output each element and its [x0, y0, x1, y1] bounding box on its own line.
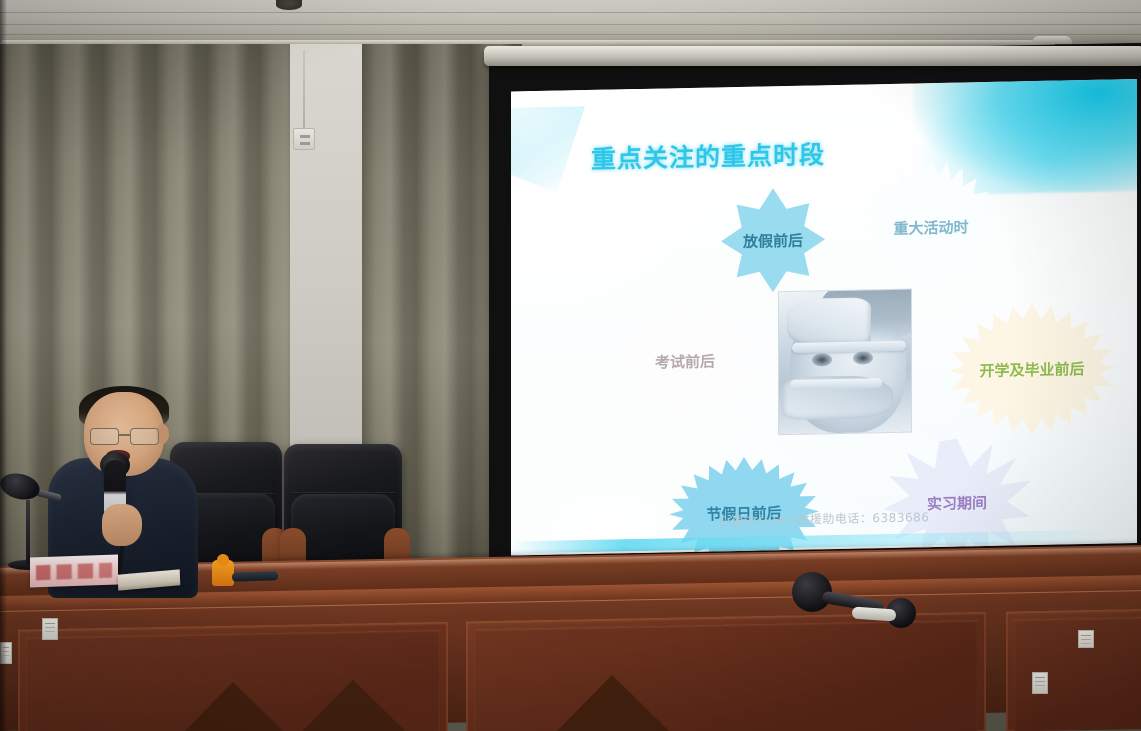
- glasses-icon: [88, 428, 164, 445]
- projector-screen: 重点关注的重点时段 放假前后 重大活动时 考试前后 开学及毕业前后: [489, 43, 1141, 576]
- podium-panel-3: [1006, 608, 1141, 731]
- burst-shape-holiday-around: 放假前后: [721, 187, 825, 293]
- ceiling-vent-icon: [276, 0, 302, 10]
- speaker-hand: [102, 504, 142, 546]
- podium-front-panel: [0, 575, 1141, 731]
- ceiling: [0, 0, 1141, 44]
- desk-card-4: [0, 642, 12, 664]
- dark-remote: [232, 571, 278, 582]
- podium-panel-2: [466, 612, 986, 731]
- slide-center-photo: [779, 290, 911, 435]
- desk-card-2: [1032, 672, 1048, 694]
- name-placard: [30, 554, 118, 587]
- lecture-hall-photo: 重点关注的重点时段 放假前后 重大活动时 考试前后 开学及毕业前后: [0, 0, 1141, 731]
- slide-footer-hotline: 心理中心24小时援助电话：6383686: [511, 504, 1137, 534]
- burst-label: 放假前后: [743, 229, 803, 251]
- podium-panel-1: [18, 622, 448, 731]
- desk-card-3: [1078, 630, 1094, 648]
- burst-label: 重大活动时: [893, 216, 968, 239]
- presentation-slide: 重点关注的重点时段 放假前后 重大活动时 考试前后 开学及毕业前后: [511, 79, 1137, 556]
- slide-title: 重点关注的重点时段: [591, 135, 825, 176]
- mic-stand-pole: [26, 500, 30, 564]
- wall-socket-icon: [293, 128, 315, 150]
- desk-card-1: [42, 618, 58, 640]
- wall-cable: [303, 50, 305, 130]
- burst-shape-term-graduation: 开学及毕业前后: [949, 301, 1115, 436]
- projector-screen-housing: [484, 46, 1141, 66]
- slide-decor-top-left: [511, 106, 585, 193]
- screen-surface: 重点关注的重点时段 放假前后 重大活动时 考试前后 开学及毕业前后: [511, 79, 1137, 556]
- burst-label: 考试前后: [655, 350, 715, 372]
- orange-clip: [212, 560, 234, 586]
- burst-label: 开学及毕业前后: [979, 358, 1084, 381]
- burst-shape-exam-around: 考试前后: [619, 299, 751, 424]
